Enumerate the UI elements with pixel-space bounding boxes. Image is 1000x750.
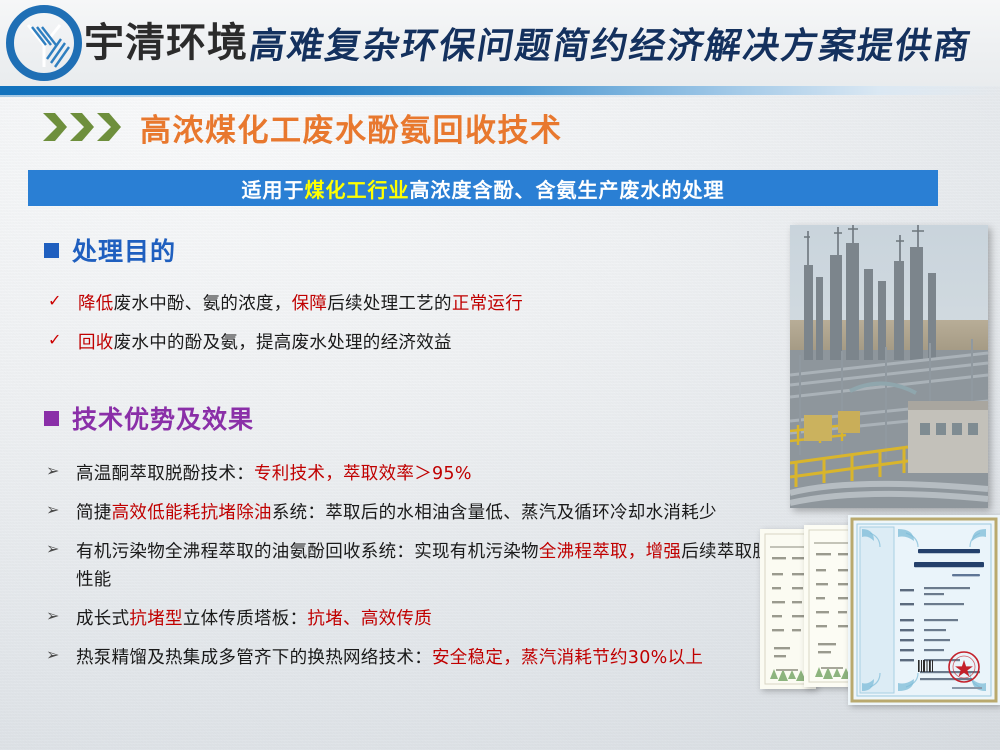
- section-advantages: 技术优势及效果 ➢高温酮萃取脱酚技术：专利技术，萃取效率＞95%➢简捷高效低能耗…: [44, 400, 789, 683]
- bullet-text: 降低废水中酚、氨的浓度，保障后续处理工艺的正常运行: [78, 290, 523, 318]
- scope-banner-text: 适用于煤化工行业高浓度含酚、含氨生产废水的处理: [242, 174, 725, 203]
- bullet-item: ➢成长式抗堵型立体传质塔板：抗堵、高效传质: [44, 605, 789, 633]
- section-purpose: 处理目的 ✓降低废水中酚、氨的浓度，保障后续处理工艺的正常运行✓回收废水中的酚及…: [44, 232, 523, 368]
- certificates-group: [760, 515, 1000, 730]
- highlight-text: 抗堵型: [129, 609, 182, 629]
- bullet-item: ➢热泵精馏及热集成多管齐下的换热网络技术：安全稳定，蒸汽消耗节约30%以上: [44, 644, 789, 672]
- section-purpose-list: ✓降低废水中酚、氨的浓度，保障后续处理工艺的正常运行✓回收废水中的酚及氨，提高废…: [44, 290, 523, 357]
- check-icon: ✓: [44, 329, 78, 352]
- highlight-text: 抗堵、高效传质: [307, 609, 432, 629]
- highlight-text: 正常运行: [452, 294, 523, 314]
- bullet-item: ➢简捷高效低能耗抗堵除油系统：萃取后的水相油含量低、蒸汽及循环冷却水消耗少: [44, 499, 789, 527]
- section-purpose-title: 处理目的: [72, 232, 176, 268]
- bullet-text: 高温酮萃取脱酚技术：专利技术，萃取效率＞95%: [76, 460, 472, 488]
- banner-prefix: 适用于: [242, 178, 305, 202]
- square-bullet-icon: [44, 411, 59, 426]
- company-tagline: 高难复杂环保问题简约经济解决方案提供商: [245, 10, 955, 76]
- page-title: 高浓煤化工废水酚氨回收技术: [140, 105, 563, 150]
- highlight-text: 全沸程萃取，增强: [539, 542, 681, 562]
- bullet-text: 简捷高效低能耗抗堵除油系统：萃取后的水相油含量低、蒸汽及循环冷却水消耗少: [76, 499, 717, 527]
- arrow-bullet-icon: ➢: [44, 499, 76, 522]
- slide-title-row: 高浓煤化工废水酚氨回收技术: [0, 104, 1000, 150]
- bullet-item: ➢高温酮萃取脱酚技术：专利技术，萃取效率＞95%: [44, 460, 789, 488]
- highlight-text: 降低: [78, 294, 114, 314]
- body-text: 后续处理工艺的: [327, 294, 452, 314]
- bullet-item: ✓降低废水中酚、氨的浓度，保障后续处理工艺的正常运行: [44, 290, 523, 318]
- section-advantages-header: 技术优势及效果: [44, 400, 789, 436]
- arrow-bullet-icon: ➢: [44, 460, 76, 483]
- body-text: 废水中酚、氨的浓度，: [114, 294, 292, 314]
- scope-banner: 适用于煤化工行业高浓度含酚、含氨生产废水的处理: [28, 170, 938, 206]
- chevron-right-icon: [42, 112, 68, 142]
- section-advantages-title: 技术优势及效果: [72, 400, 254, 436]
- highlight-text: 保障: [292, 294, 328, 314]
- arrow-bullet-icon: ➢: [44, 538, 76, 561]
- banner-highlight: 煤化工行业: [305, 178, 410, 202]
- certificate-software-copyright: [848, 515, 1000, 705]
- chemical-plant-photo: [790, 225, 988, 508]
- highlight-text: 高效低能耗抗堵除油: [112, 503, 272, 523]
- body-text: 简捷: [76, 503, 112, 523]
- highlight-text: 专利技术，萃取效率＞95%: [254, 464, 472, 484]
- arrow-bullet-icon: ➢: [44, 605, 76, 628]
- body-text: 立体传质塔板：: [183, 609, 308, 629]
- slide-root: 宇清环境 高难复杂环保问题简约经济解决方案提供商 高浓煤化工废水酚氨回收技术 适…: [0, 0, 1000, 750]
- arrow-bullet-icon: ➢: [44, 644, 76, 667]
- body-text: 废水中的酚及氨，提高废水处理的经济效益: [114, 333, 452, 353]
- bullet-item: ➢有机污染物全沸程萃取的油氨酚回收系统：实现有机污染物全沸程萃取，增强后续萃取脱…: [44, 538, 789, 594]
- header-rule-thin: [0, 95, 1000, 97]
- highlight-text: 安全稳定，蒸汽消耗节约30%以上: [432, 648, 703, 668]
- slide-header: 宇清环境 高难复杂环保问题简约经济解决方案提供商: [0, 0, 1000, 86]
- body-text: 高温酮萃取脱酚技术：: [76, 464, 254, 484]
- check-icon: ✓: [44, 290, 78, 313]
- bullet-item: ✓回收废水中的酚及氨，提高废水处理的经济效益: [44, 329, 523, 357]
- section-advantages-list: ➢高温酮萃取脱酚技术：专利技术，萃取效率＞95%➢简捷高效低能耗抗堵除油系统：萃…: [44, 460, 789, 672]
- bullet-text: 回收废水中的酚及氨，提高废水处理的经济效益: [78, 329, 452, 357]
- company-logo: 宇清环境: [6, 4, 256, 82]
- square-bullet-icon: [44, 243, 59, 258]
- yuqing-circle-logo-icon: [6, 5, 82, 81]
- chevron-right-icon: [96, 112, 122, 142]
- chevron-right-icon: [69, 112, 95, 142]
- body-text: 系统：萃取后的水相油含量低、蒸汽及循环冷却水消耗少: [272, 503, 717, 523]
- highlight-text: 回收: [78, 333, 114, 353]
- body-text: 有机污染物全沸程萃取的油氨酚回收系统：实现有机污染物: [76, 542, 539, 562]
- bullet-text: 成长式抗堵型立体传质塔板：抗堵、高效传质: [76, 605, 432, 633]
- section-purpose-header: 处理目的: [44, 232, 523, 268]
- chevron-group: [42, 112, 122, 142]
- company-name: 宇清环境: [84, 23, 248, 63]
- banner-suffix: 高浓度含酚、含氨生产废水的处理: [410, 178, 725, 202]
- body-text: 热泵精馏及热集成多管齐下的换热网络技术：: [76, 648, 432, 668]
- bullet-text: 有机污染物全沸程萃取的油氨酚回收系统：实现有机污染物全沸程萃取，增强后续萃取脱酚…: [76, 538, 789, 594]
- bullet-text: 热泵精馏及热集成多管齐下的换热网络技术：安全稳定，蒸汽消耗节约30%以上: [76, 644, 703, 672]
- header-rule: [0, 86, 1000, 95]
- body-text: 成长式: [76, 609, 129, 629]
